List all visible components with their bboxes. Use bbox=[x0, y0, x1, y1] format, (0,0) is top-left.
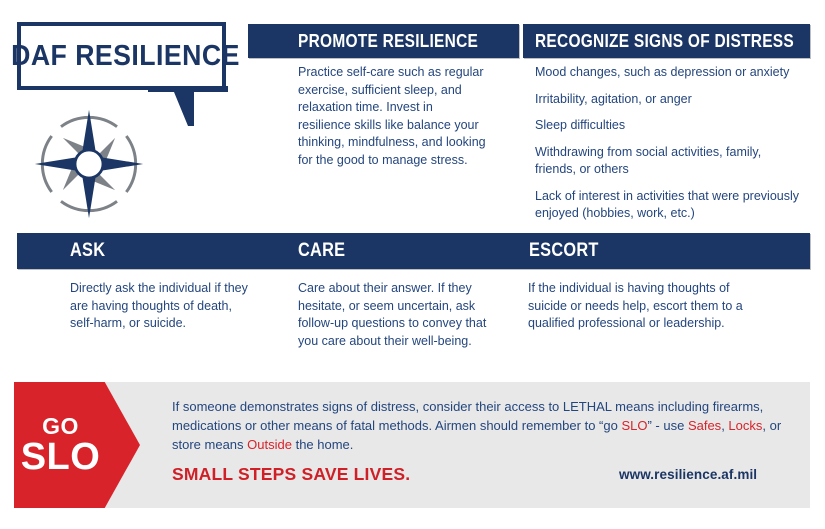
footer-highlight-locks: Locks bbox=[728, 418, 762, 433]
header-recognize-label: RECOGNIZE SIGNS OF DISTRESS bbox=[535, 31, 794, 52]
escort-body: If the individual is having thoughts of … bbox=[528, 280, 758, 333]
footer-paragraph: If someone demonstrates signs of distres… bbox=[172, 397, 792, 454]
footer-tagline: SMALL STEPS SAVE LIVES. bbox=[172, 464, 410, 485]
list-item: Sleep difficulties bbox=[535, 117, 803, 135]
footer-highlight-safes: Safes bbox=[688, 418, 721, 433]
go-slo-line1: GO bbox=[42, 414, 79, 438]
brand-title: DAF RESILIENCE bbox=[29, 26, 221, 86]
footer-highlight-outside: Outside bbox=[247, 437, 292, 452]
infographic-canvas: DAF RESILIENCE bbox=[0, 0, 825, 529]
header-promote-label: PROMOTE RESILIENCE bbox=[298, 31, 478, 52]
logo-area: DAF RESILIENCE bbox=[0, 0, 248, 228]
speech-bubble-icon: DAF RESILIENCE bbox=[17, 22, 226, 90]
ask-body: Directly ask the individual if they are … bbox=[70, 280, 255, 333]
band-label-escort: ESCORT bbox=[529, 233, 599, 269]
list-item: Irritability, agitation, or anger bbox=[535, 91, 803, 109]
speech-bubble-tail-icon bbox=[148, 86, 228, 126]
band-label-care: CARE bbox=[298, 233, 345, 269]
footer-website-link[interactable]: www.resilience.af.mil bbox=[619, 467, 757, 482]
header-recognize-distress: RECOGNIZE SIGNS OF DISTRESS bbox=[523, 24, 810, 58]
ace-header-band: ASK CARE ESCORT bbox=[17, 233, 810, 269]
list-item: Lack of interest in activities that were… bbox=[535, 188, 803, 223]
band-label-ask: ASK bbox=[70, 233, 105, 269]
footer-text-5: the home. bbox=[292, 437, 353, 452]
header-promote-resilience: PROMOTE RESILIENCE bbox=[248, 24, 519, 58]
care-body: Care about their answer. If they hesitat… bbox=[298, 280, 488, 350]
footer-highlight-slo: SLO bbox=[621, 418, 647, 433]
promote-resilience-body: Practice self-care such as regular exerc… bbox=[298, 64, 488, 169]
compass-rose-icon bbox=[30, 108, 148, 220]
distress-signs-list: Mood changes, such as depression or anxi… bbox=[535, 64, 803, 223]
go-slo-line2: SLO bbox=[21, 438, 101, 476]
footer-text-2: ” - use bbox=[647, 418, 687, 433]
list-item: Withdrawing from social activities, fami… bbox=[535, 144, 803, 179]
list-item: Mood changes, such as depression or anxi… bbox=[535, 64, 803, 82]
